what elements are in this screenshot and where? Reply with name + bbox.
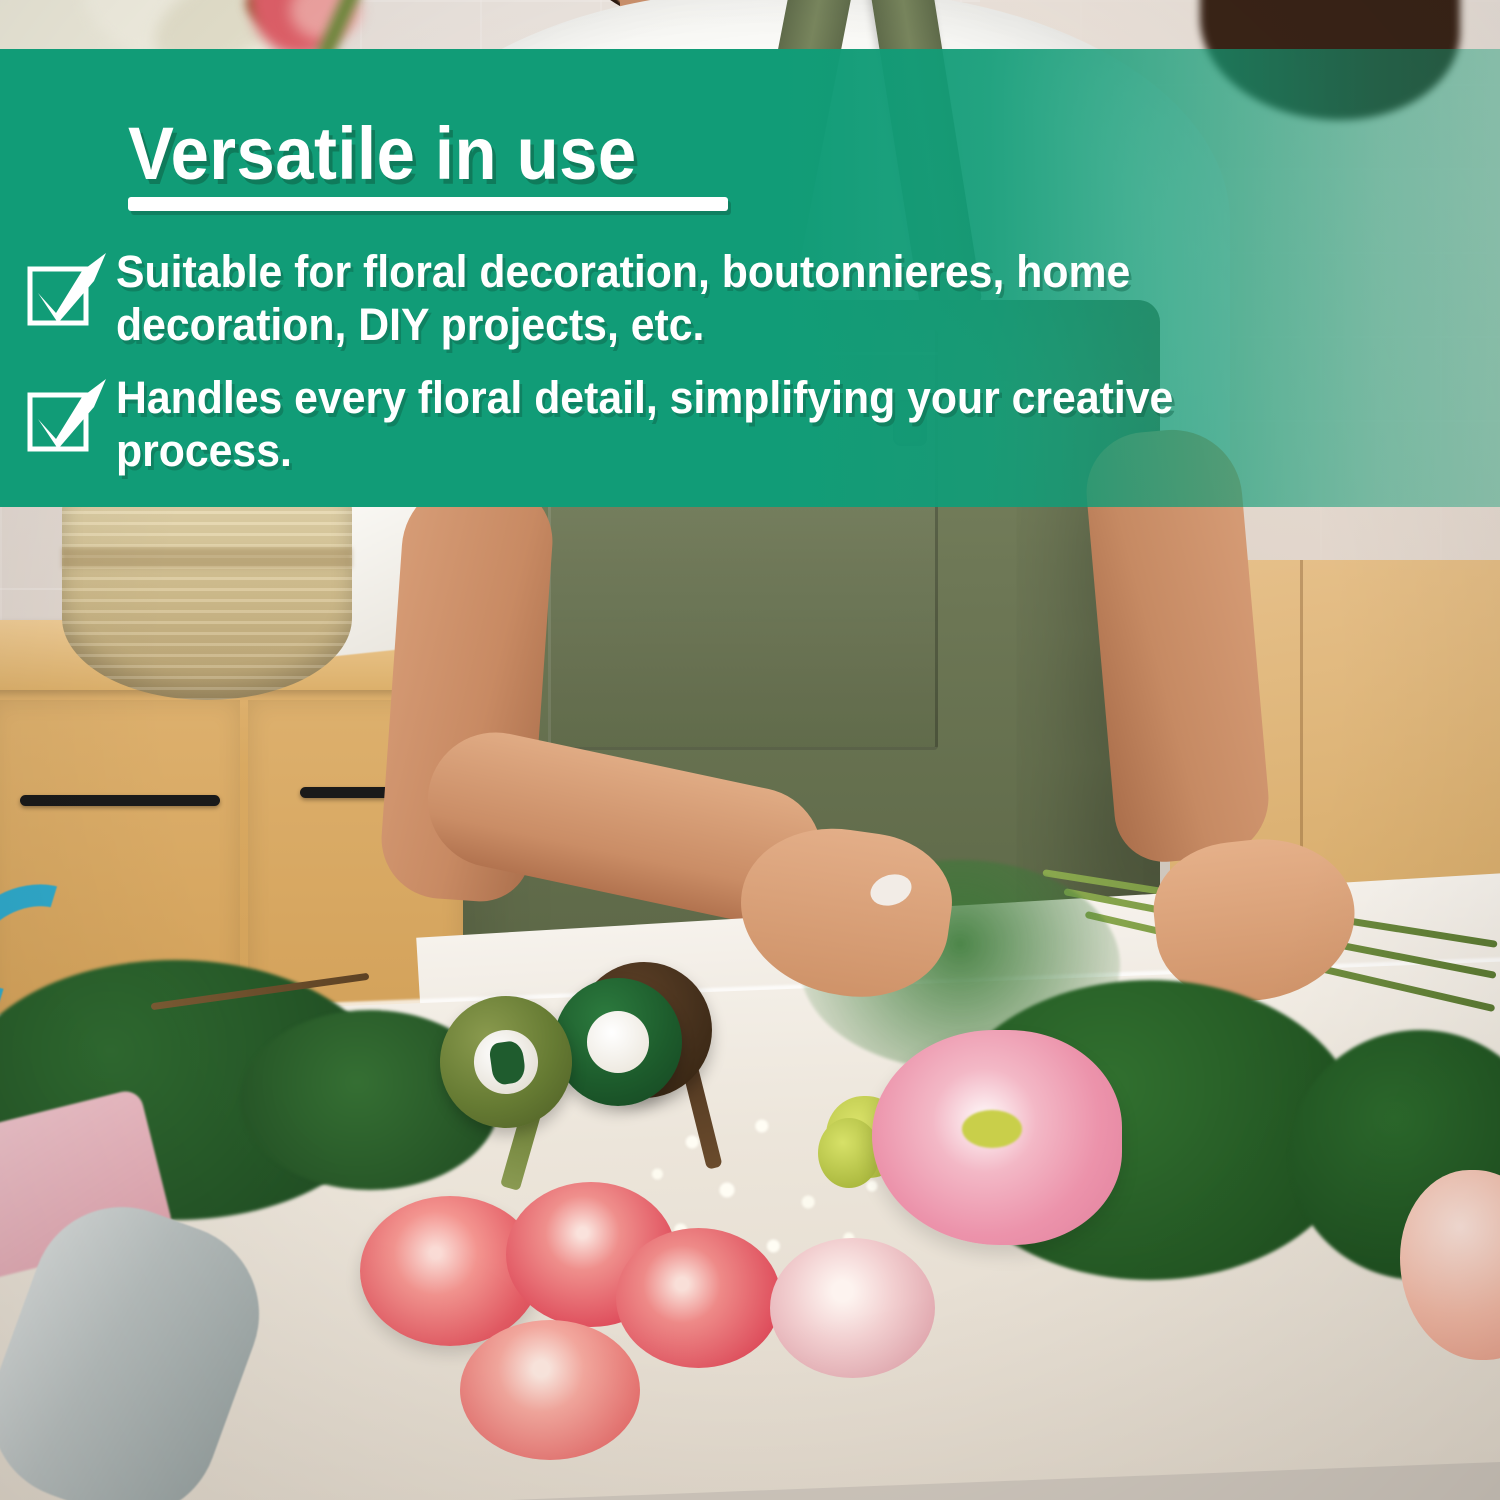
product-marketing-image: Versatile in use Suitable for floral dec… [0,0,1500,1500]
list-item-label: Suitable for floral decoration, boutonni… [116,245,1290,351]
feature-banner: Versatile in use Suitable for floral dec… [0,49,1500,507]
banner-title-group: Versatile in use [128,117,675,191]
page-title: Versatile in use [128,117,637,191]
list-item: Handles every floral detail, simplifying… [22,371,1352,477]
feature-bullet-list: Suitable for floral decoration, boutonni… [22,245,1352,497]
title-underline [128,197,728,211]
list-item: Suitable for floral decoration, boutonni… [22,245,1352,351]
checkbox-checked-icon [22,251,116,329]
checkbox-checked-icon [22,377,116,455]
list-item-label: Handles every floral detail, simplifying… [116,371,1290,477]
